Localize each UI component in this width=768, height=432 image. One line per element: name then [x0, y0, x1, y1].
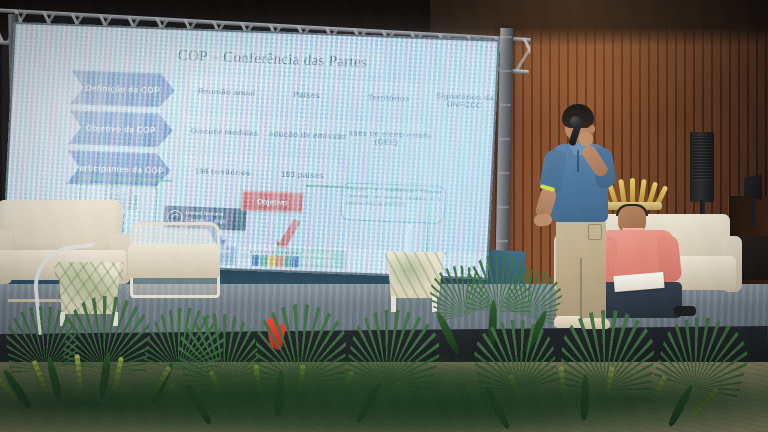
foliage-mass [0, 336, 768, 432]
screen-glare-right [245, 41, 500, 280]
pa-speaker [690, 132, 714, 202]
pa-speaker-secondary-stand [751, 198, 755, 228]
conference-stage-photo: COP – Conferência das Partes Definição d… [0, 0, 768, 432]
water-bottle [406, 228, 414, 254]
microphone-capsule-icon [570, 116, 581, 127]
pa-speaker-secondary [744, 174, 762, 200]
armchair-left-second [128, 222, 224, 308]
